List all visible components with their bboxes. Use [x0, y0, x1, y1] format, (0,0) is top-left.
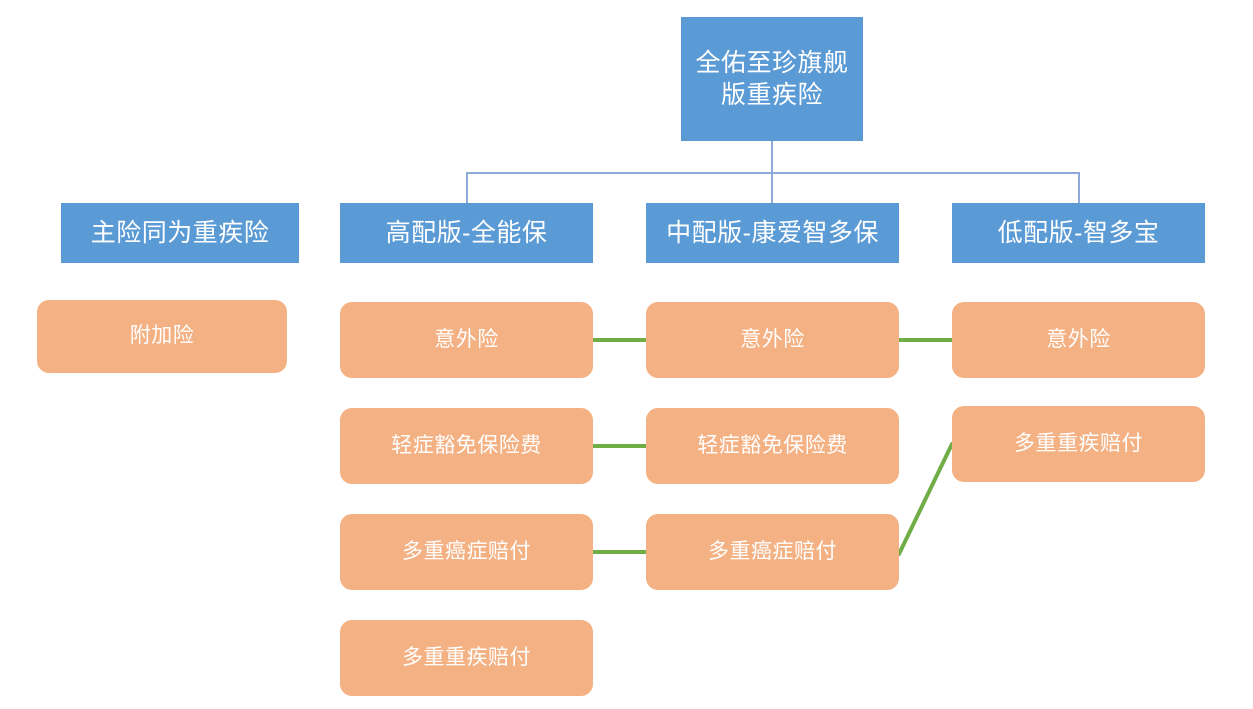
link-cancer-col0-col1	[593, 550, 646, 554]
node-col2-item-1-label: 多重重疾赔付	[1014, 431, 1143, 458]
node-header-low-config[interactable]: 低配版-智多宝	[952, 203, 1205, 263]
node-col0-item-2[interactable]: 多重癌症赔付	[340, 514, 593, 590]
link-accident-col1-col2	[899, 338, 952, 342]
node-col1-item-2[interactable]: 多重癌症赔付	[646, 514, 899, 590]
connector-horizontal-bus	[466, 172, 1080, 174]
node-col0-item-1[interactable]: 轻症豁免保险费	[340, 408, 593, 484]
node-col0-item-1-label: 轻症豁免保险费	[391, 433, 542, 460]
node-root-product[interactable]: 全佑至珍旗舰 版重疾险	[681, 17, 863, 141]
node-col1-item-2-label: 多重癌症赔付	[708, 539, 837, 566]
link-accident-col0-col1	[593, 338, 646, 342]
connector-root-stem	[771, 141, 773, 173]
link-cancer-to-critical-diagonal	[899, 444, 952, 554]
node-header-low-config-label: 低配版-智多宝	[998, 217, 1160, 249]
node-root-line2: 版重疾险	[721, 79, 823, 111]
node-col2-item-0[interactable]: 意外险	[952, 302, 1205, 378]
node-col0-item-3[interactable]: 多重重疾赔付	[340, 620, 593, 696]
node-header-mid-config-label: 中配版-康爱智多保	[666, 217, 879, 249]
node-col0-item-3-label: 多重重疾赔付	[402, 645, 531, 672]
connector-branch-mid	[771, 172, 773, 203]
node-col1-item-0-label: 意外险	[740, 327, 805, 354]
node-col1-item-1-label: 轻症豁免保险费	[697, 433, 848, 460]
node-col0-item-0[interactable]: 意外险	[340, 302, 593, 378]
node-header-mid-config[interactable]: 中配版-康爱智多保	[646, 203, 899, 263]
link-waiver-col0-col1	[593, 444, 646, 448]
node-col1-item-0[interactable]: 意外险	[646, 302, 899, 378]
node-col0-item-0-label: 意外险	[434, 327, 499, 354]
node-left-item-0[interactable]: 附加险	[37, 300, 287, 373]
node-col2-item-0-label: 意外险	[1046, 327, 1111, 354]
diagram-canvas: 全佑至珍旗舰 版重疾险 主险同为重疾险 附加险 高配版-全能保 意外险 轻症豁免…	[0, 0, 1253, 709]
node-left-item-0-label: 附加险	[130, 323, 195, 350]
connector-branch-low	[1078, 172, 1080, 203]
connector-branch-high	[466, 172, 468, 203]
node-col0-item-2-label: 多重癌症赔付	[402, 539, 531, 566]
node-col1-item-1[interactable]: 轻症豁免保险费	[646, 408, 899, 484]
node-root-line1: 全佑至珍旗舰	[695, 47, 848, 79]
node-header-high-config[interactable]: 高配版-全能保	[340, 203, 593, 263]
node-col2-item-1[interactable]: 多重重疾赔付	[952, 406, 1205, 482]
node-header-main-insurance-label: 主险同为重疾险	[91, 217, 270, 249]
node-header-main-insurance[interactable]: 主险同为重疾险	[61, 203, 299, 263]
node-header-high-config-label: 高配版-全能保	[386, 217, 548, 249]
